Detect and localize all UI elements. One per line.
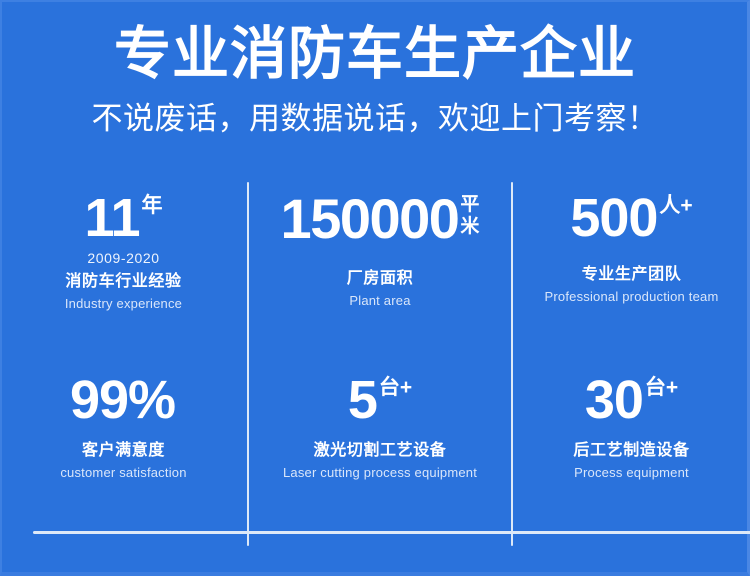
stat-value: 30 [585,374,643,427]
stat-value: 11 [84,192,139,245]
stat-value: 500 [570,192,657,245]
stat-value-row: 99% [0,374,247,427]
stat-value-row: 5 台+ [249,374,511,427]
stat-label-cn: 后工艺制造设备 [513,441,750,462]
stat-value: 99% [70,374,175,427]
banner-header: 专业消防车生产企业 不说废话，用数据说话，欢迎上门考察！ [0,22,750,137]
stat-cell-production-team: 500 人+ 专业生产团队 Professional production te… [513,192,750,352]
stat-label-cn: 消防车行业经验 [0,272,247,293]
stats-grid: 11 年 2009-2020 消防车行业经验 Industry experien… [0,178,750,550]
banner-subheadline: 不说废话，用数据说话，欢迎上门考察！ [0,100,750,137]
stat-value: 5 [348,374,377,427]
stat-label-en: Plant area [249,293,511,310]
stat-cell-laser-cutting: 5 台+ 激光切割工艺设备 Laser cutting process equi… [249,374,511,534]
banner-headline: 专业消防车生产企业 [0,22,750,88]
stat-label-en: customer satisfaction [0,465,247,482]
stat-cell-industry-experience: 11 年 2009-2020 消防车行业经验 Industry experien… [0,192,247,352]
stat-label-en: Laser cutting process equipment [249,465,511,482]
stat-unit-line-1: 平 [460,194,479,216]
stat-value: 150000 [281,192,459,247]
stat-cell-plant-area: 150000 平 米 厂房面积 Plant area [249,192,511,352]
stat-label-en: Professional production team [513,289,750,306]
promo-banner: 专业消防车生产企业 不说废话，用数据说话，欢迎上门考察！ 11 年 2009-2… [0,0,750,576]
stat-extra: 2009-2020 [0,250,247,267]
stat-value-row: 500 人+ [513,192,750,245]
stat-label-cn: 专业生产团队 [513,265,750,286]
stat-cell-process-equipment: 30 台+ 后工艺制造设备 Process equipment [513,374,750,534]
stat-cell-customer-satisfaction: 99% 客户满意度 customer satisfaction [0,374,247,534]
stat-value-row: 11 年 [0,192,247,245]
stat-label-en: Industry experience [0,296,247,313]
stat-unit: 平 米 [460,192,479,238]
stat-label-cn: 厂房面积 [249,269,511,290]
stat-unit: 台+ [645,374,678,399]
stat-unit: 台+ [379,374,412,399]
stat-label-en: Process equipment [513,465,750,482]
stat-value-row: 150000 平 米 [249,192,511,247]
stat-label-cn: 激光切割工艺设备 [249,441,511,462]
stat-unit-line-2: 米 [460,216,479,238]
stat-label-cn: 客户满意度 [0,441,247,462]
stat-unit: 年 [142,192,163,217]
stat-value-row: 30 台+ [513,374,750,427]
stat-unit: 人+ [659,192,692,217]
